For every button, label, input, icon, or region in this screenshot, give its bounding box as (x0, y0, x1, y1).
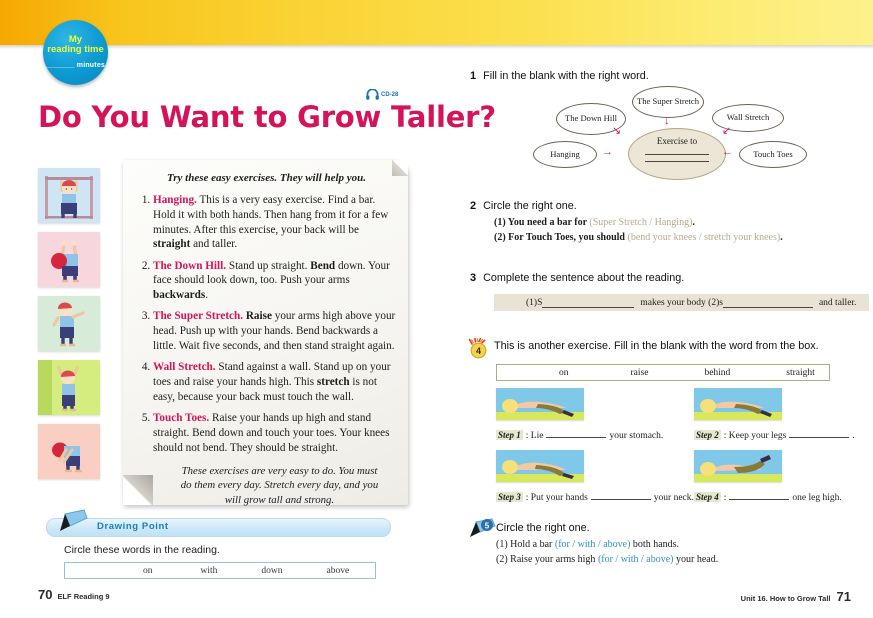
node-super-stretch[interactable]: The Super Stretch (632, 86, 704, 118)
q2-item-2[interactable]: (2) For Touch Toes, you should (bend you… (494, 232, 873, 243)
arrow-hanging: → (602, 147, 613, 158)
drawing-point-bar: Drawing Point (46, 518, 391, 537)
q5-item-1-prefix: (1) Hold a bar (496, 539, 555, 550)
q3-number: 3 (470, 272, 476, 285)
term-super-stretch: The Super Stretch. (153, 310, 243, 322)
step-3-before: : Put your hands (526, 493, 588, 503)
right-footer: Unit 16. How to Grow Tall 71 (741, 589, 851, 604)
center-blank-1[interactable] (645, 154, 709, 155)
dp-word-1[interactable]: with (201, 566, 218, 576)
headphones-icon (366, 89, 379, 100)
exercise-list: Hanging. This is a very easy exercise. F… (137, 193, 396, 456)
q4-word-3[interactable]: straight (786, 368, 815, 378)
audio-cd-mark: CD-28 (366, 89, 398, 100)
arrow-touch-toes: ← (722, 147, 733, 158)
q4-step-2-line[interactable]: Step 2 : Keep your legs . (694, 427, 855, 441)
q4-step-1-line[interactable]: Step 1 : Lie your stomach. (496, 427, 663, 441)
q2-item-2-prefix: (2) For Touch Toes, you should (494, 232, 627, 243)
drawing-point-label: Drawing Point (97, 521, 169, 532)
q5-text: Circle the right one. (496, 522, 590, 535)
keyword: straight (153, 238, 190, 250)
q2-item-2-choice[interactable]: (bend your knees / stretch your knees) (627, 232, 780, 243)
q5-item-1-choice[interactable]: (for / with / above) (555, 539, 631, 550)
left-page-number: 70 (38, 587, 52, 602)
reading-time-minutes: _______ minutes (46, 62, 105, 69)
node-hanging[interactable]: Hanging (533, 141, 597, 168)
list-item: Wall Stretch. Stand against a wall. Stan… (153, 360, 396, 404)
term-down-hill: The Down Hill. (153, 260, 226, 272)
q3-blank-2[interactable] (723, 297, 813, 308)
q4-word-1[interactable]: raise (631, 368, 649, 378)
node-label: The Down Hill (565, 114, 617, 124)
q1-text: Fill in the blank with the right word. (483, 70, 649, 83)
q4-step-1-block: Step 1 : Lie your stomach. (496, 388, 663, 441)
touch-toes-illustration (38, 424, 100, 479)
node-center-exercise[interactable]: Exercise to (628, 128, 726, 180)
step-1-tag: Step 1 (496, 430, 523, 440)
down-hill-illustration (38, 232, 100, 287)
q4-step-3-line[interactable]: Step 3 : Put your hands your neck. (496, 489, 694, 503)
step-2-after: . (852, 431, 854, 441)
q5-item-2[interactable]: (2) Raise your arms high (for / with / a… (496, 554, 873, 565)
node-label: Touch Toes (753, 150, 792, 160)
step-4-blank[interactable] (729, 489, 789, 500)
super-stretch-illustration (38, 296, 100, 351)
note-closing: These exercises are very easy to do. You… (177, 464, 382, 508)
svg-text:4: 4 (476, 346, 481, 356)
term-hanging: Hanging. (153, 194, 197, 206)
body-text: Stand up straight. (226, 260, 310, 272)
svg-text:5: 5 (485, 521, 490, 530)
step-1-after: your stomach. (609, 431, 663, 441)
q1-number: 1 (470, 70, 476, 83)
body-text: . (205, 289, 208, 301)
list-item: Hanging. This is a very easy exercise. F… (153, 193, 396, 252)
step-1-blank[interactable] (546, 427, 606, 438)
step-1 (496, 388, 584, 420)
reading-time-line2: reading time (47, 45, 104, 55)
step-1-before: : Lie (526, 431, 544, 441)
list-item: The Down Hill. Stand up straight. Bend d… (153, 259, 396, 303)
step-4-before: : (724, 493, 727, 503)
marker-badge-5-icon: 5 (468, 518, 498, 542)
q4-step-2-block: Step 2 : Keep your legs . (694, 388, 855, 441)
q2-text: Circle the right one. (483, 200, 577, 213)
step-2-tag: Step 2 (694, 430, 721, 440)
q1-diagram: The Super Stretch The Down Hill Wall Str… (494, 86, 864, 178)
q3-answer-strip[interactable]: (1)S makes your body (2)s and taller. (494, 294, 869, 311)
q5-item-2-suffix: your head. (673, 554, 718, 565)
q4-step-4-line[interactable]: Step 4 : one leg high. (694, 489, 842, 503)
workbook-spread: My reading time _______ minutes Do You W… (0, 0, 873, 618)
q3-part-1: (1)S (526, 298, 542, 308)
q4-step-3-block: Step 3 : Put your hands your neck. (496, 450, 694, 503)
wall-stretch-illustration (38, 360, 100, 415)
step-3-tag: Step 3 (496, 492, 523, 502)
note-lead: Try these easy exercises. They will help… (137, 172, 396, 184)
list-item: Touch Toes. Raise your hands up high and… (153, 411, 396, 455)
q3-part-2: makes your body (2)s (640, 298, 723, 308)
q2-item-1[interactable]: (1) You need a bar for (Super Stretch / … (494, 217, 873, 228)
step-4-after: one leg high. (792, 493, 841, 503)
q4-step-4-block: Step 4 : one leg high. (694, 450, 842, 503)
q4-wordbox[interactable]: on raise behind straight (496, 364, 830, 381)
list-item: The Super Stretch. Raise your arms high … (153, 309, 396, 353)
right-page: 1 Fill in the blank with the right word.… (470, 0, 873, 618)
q5-item-2-choice[interactable]: (for / with / above) (598, 554, 674, 565)
audio-cd-label: CD-28 (381, 92, 398, 98)
step-2 (694, 388, 782, 420)
step-4 (694, 450, 782, 482)
q5-item-2-prefix: (2) Raise your arms high (496, 554, 598, 565)
step-3 (496, 450, 584, 482)
body-text: and taller. (190, 238, 237, 250)
unit-title: Unit 16. How to Grow Tall (741, 594, 831, 603)
drawing-point-instruction: Circle these words in the reading. (64, 544, 391, 556)
q2-item-1-choice[interactable]: (Super Stretch / Hanging) (589, 217, 692, 228)
q4-word-2[interactable]: behind (704, 368, 730, 378)
step-3-blank[interactable] (591, 489, 651, 500)
q3-text: Complete the sentence about the reading. (483, 272, 684, 285)
center-blank-2[interactable] (645, 161, 709, 162)
q4-text: This is another exercise. Fill in the bl… (494, 340, 819, 353)
hanging-illustration (38, 168, 100, 223)
reading-note: Try these easy exercises. They will help… (123, 160, 408, 505)
question-5: 5 Circle the right one. (1) Hold a bar (… (470, 522, 873, 565)
term-touch-toes: Touch Toes. (153, 412, 209, 424)
q2-item-2-suffix: . (780, 232, 783, 243)
node-label: The Super Stretch (637, 97, 699, 107)
q5-item-1-suffix: both hands. (630, 539, 679, 550)
center-label: Exercise to (657, 136, 697, 146)
q3-blank-1[interactable] (542, 297, 634, 308)
q5-item-1[interactable]: (1) Hold a bar (for / with / above) both… (496, 539, 873, 550)
dp-word-2[interactable]: down (261, 566, 282, 576)
step-2-before: : Keep your legs (724, 431, 787, 441)
node-label: Wall Stretch (727, 113, 770, 123)
dp-word-0[interactable]: on (143, 566, 153, 576)
term-wall-stretch: Wall Stretch. (153, 361, 216, 373)
keyword: Bend (310, 260, 335, 272)
step-4-tag: Step 4 (694, 492, 721, 502)
right-page-number: 71 (837, 589, 851, 604)
node-touch-toes[interactable]: Touch Toes (739, 141, 807, 168)
book-title: ELF Reading 9 (57, 592, 109, 601)
arrow-super-stretch: ↓ (664, 116, 670, 127)
left-footer: 70 ELF Reading 9 (38, 587, 110, 602)
arrow-wall-stretch: ↙ (722, 126, 731, 137)
step-2-blank[interactable] (789, 427, 849, 438)
drawing-point-wordbox[interactable]: on with down above (64, 562, 376, 579)
q2-item-1-prefix: (1) You need a bar for (494, 217, 589, 228)
star-badge-4-icon: 4 (468, 338, 490, 360)
keyword: Raise (246, 310, 272, 322)
illustration-column (38, 168, 100, 488)
q2-item-1-suffix: . (692, 217, 695, 228)
question-1: 1 Fill in the blank with the right word.… (470, 70, 873, 83)
keyword: stretch (317, 376, 350, 388)
q3-part-3: and taller. (819, 298, 856, 308)
arrow-down-hill: ↘ (612, 126, 621, 137)
page-title: Do You Want to Grow Taller? (38, 100, 496, 134)
question-2: 2 Circle the right one. (1) You need a b… (470, 200, 873, 243)
q2-number: 2 (470, 200, 476, 213)
drawing-point-section: Drawing Point Circle these words in the … (46, 518, 391, 579)
step-3-after: your neck. (654, 493, 694, 503)
question-4: 4 This is another exercise. Fill in the … (470, 340, 873, 353)
reading-time-badge: My reading time _______ minutes (43, 20, 108, 85)
marker-icon (57, 509, 91, 535)
q4-word-0[interactable]: on (559, 368, 569, 378)
question-3: 3 Complete the sentence about the readin… (470, 272, 873, 285)
dp-word-3[interactable]: above (327, 566, 350, 576)
keyword: backwards (153, 289, 205, 301)
node-label: Hanging (550, 150, 580, 160)
